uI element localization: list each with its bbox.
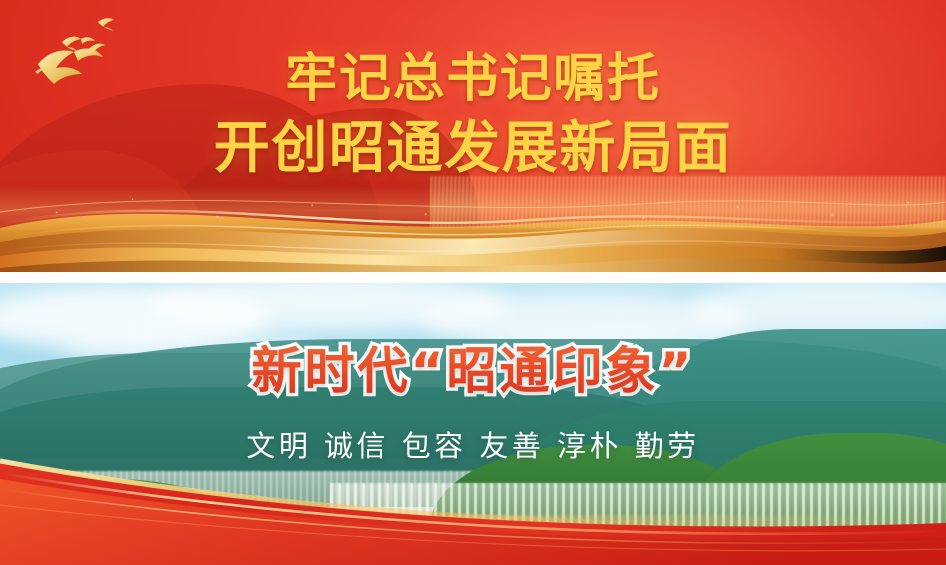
top-red-banner: 牢记总书记嘱托 开创昭通发展新局面 bbox=[0, 0, 946, 272]
gold-sparkle-streak-icon bbox=[430, 176, 946, 228]
red-ribbon-sweep-icon bbox=[0, 445, 946, 565]
banner-divider bbox=[0, 272, 946, 283]
banner-page: 牢记总书记嘱托 开创昭通发展新局面 新时代“昭通印象” 新时代“昭通印象” 文明… bbox=[0, 0, 946, 565]
flying-doves-icon bbox=[22, 8, 142, 92]
